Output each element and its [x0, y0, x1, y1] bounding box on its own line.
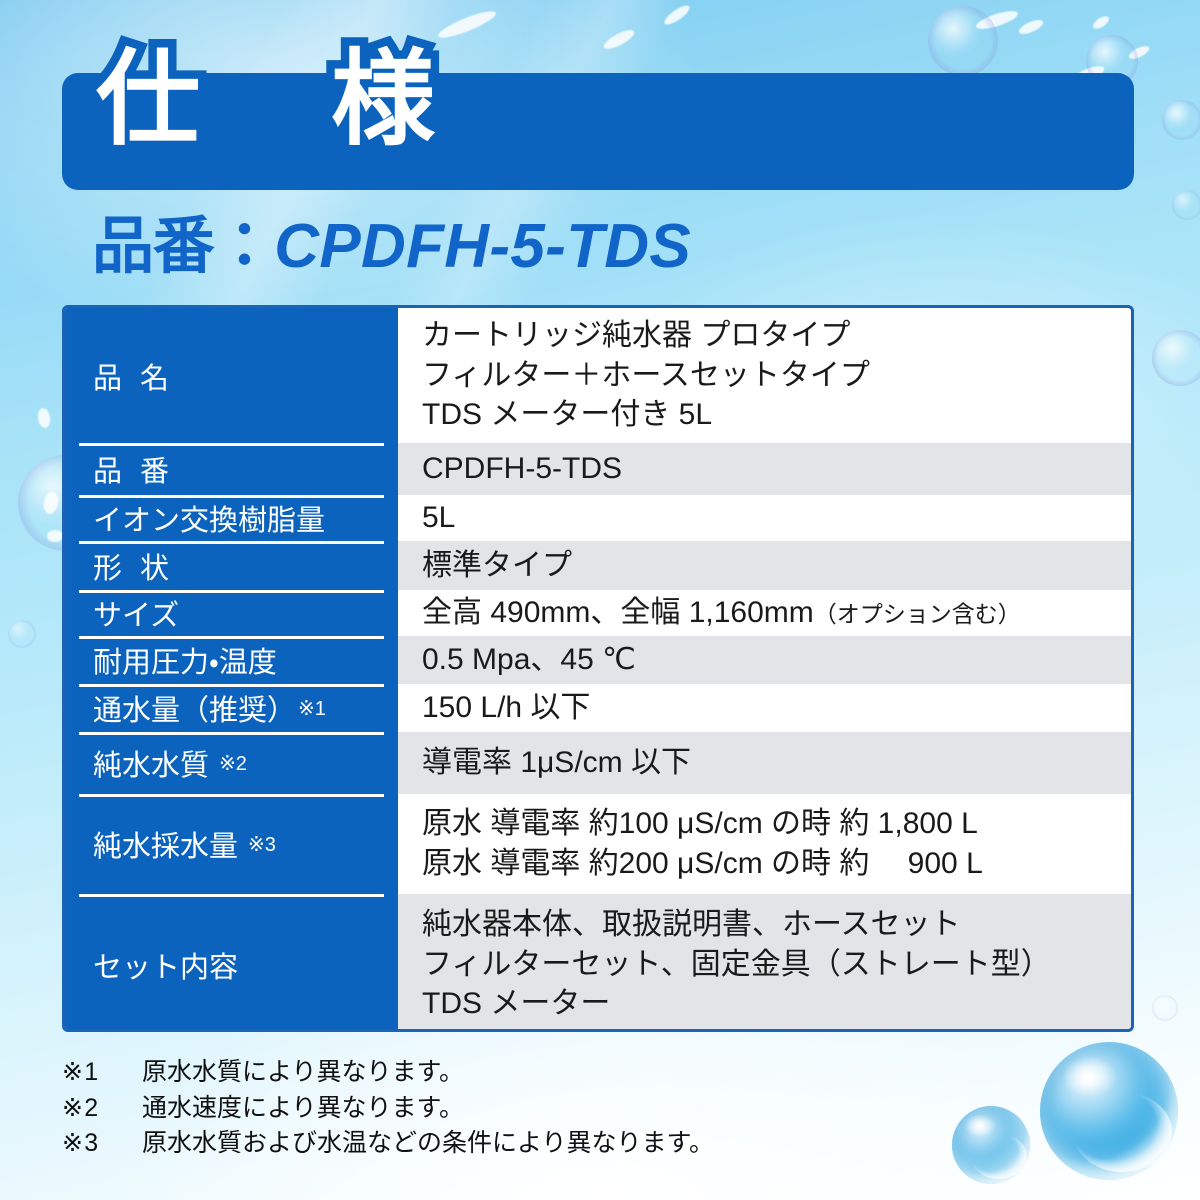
- spec-value-line: カートリッジ純水器 プロタイプ: [422, 316, 1121, 356]
- spec-row-label-text: 品番: [93, 448, 187, 490]
- spec-row: イオン交換樹脂量5L: [65, 495, 1131, 541]
- spec-row: 品番CPDFH-5-TDS: [65, 443, 1131, 495]
- spec-row-footnote-marker: ※2: [219, 751, 247, 776]
- spec-row-value: 5L: [398, 495, 1131, 541]
- footnote-marker: ※2: [62, 1091, 142, 1127]
- footnote-item: ※2通水速度により異なります。: [62, 1091, 962, 1127]
- spec-row-label-text: 純水水質: [93, 742, 209, 784]
- spec-row-footnote-marker: ※3: [248, 832, 276, 857]
- spec-row-label: 形状: [65, 541, 398, 590]
- spec-value-line: フィルターセット、固定金具（ストレート型）: [422, 945, 1121, 985]
- footnote-text: 原水水質により異なります。: [142, 1055, 464, 1091]
- spec-value-line: 0.5 Mpa、45 ℃: [422, 640, 1121, 680]
- spec-row-value: 標準タイプ: [398, 541, 1131, 590]
- spec-row: 純水採水量※3原水 導電率 約100 μS/cm の時 約 1,800 L原水 …: [65, 794, 1131, 894]
- spec-row-label-text: 純水採水量: [93, 823, 238, 865]
- spec-row-value: 0.5 Mpa、45 ℃: [398, 636, 1131, 684]
- spec-row: 品名カートリッジ純水器 プロタイプフィルター＋ホースセットタイプTDS メーター…: [65, 308, 1131, 443]
- spec-value-line: 150 L/h 以下: [422, 688, 1121, 728]
- spec-value-line: 標準タイプ: [422, 546, 1121, 586]
- model-number-heading: 品番：CPDFH-5-TDS: [92, 216, 691, 278]
- spec-row: 通水量（推奨）※1150 L/h 以下: [65, 684, 1131, 732]
- spec-row: セット内容純水器本体、取扱説明書、ホースセットフィルターセット、固定金具（ストレ…: [65, 894, 1131, 1032]
- spec-row-value: 150 L/h 以下: [398, 684, 1131, 732]
- spec-row-label-text: セット内容: [93, 944, 238, 986]
- spec-row-value: 原水 導電率 約100 μS/cm の時 約 1,800 L原水 導電率 約20…: [398, 794, 1131, 894]
- spec-row-label-text: 通水量（推奨）: [93, 687, 296, 729]
- spec-row: サイズ全高 490mm、全幅 1,160mm（オプション含む）: [65, 590, 1131, 636]
- footnote-list: ※1原水水質により異なります。※2通水速度により異なります。※3原水水質および水…: [62, 1055, 962, 1162]
- spec-row-label-text: サイズ: [93, 592, 179, 634]
- footnote-marker: ※1: [62, 1055, 142, 1091]
- spec-row-label: 通水量（推奨）※1: [65, 684, 398, 732]
- spec-row-label-text: 耐用圧力・温度: [93, 639, 277, 681]
- specification-table: 品名カートリッジ純水器 プロタイプフィルター＋ホースセットタイプTDS メーター…: [62, 305, 1134, 1032]
- spec-value-line: 導電率 1μS/cm 以下: [422, 743, 1121, 783]
- spec-row: 耐用圧力・温度0.5 Mpa、45 ℃: [65, 636, 1131, 684]
- spec-row-footnote-marker: ※1: [298, 696, 326, 721]
- spec-row-label: 品番: [65, 443, 398, 495]
- spec-row-value: 純水器本体、取扱説明書、ホースセットフィルターセット、固定金具（ストレート型）T…: [398, 894, 1131, 1032]
- spec-row-label: 耐用圧力・温度: [65, 636, 398, 684]
- spec-row-label: 純水水質※2: [65, 732, 398, 794]
- spec-value-line: フィルター＋ホースセットタイプ: [422, 356, 1121, 396]
- spec-row-label: 純水採水量※3: [65, 794, 398, 894]
- spec-value-line: 全高 490mm、全幅 1,160mm（オプション含む）: [422, 593, 1121, 633]
- spec-row-label: サイズ: [65, 590, 398, 636]
- spec-row-label-text: 品名: [93, 355, 187, 397]
- spec-value-line: 原水 導電率 約100 μS/cm の時 約 1,800 L: [422, 804, 1121, 844]
- footnote-marker: ※3: [62, 1126, 142, 1162]
- spec-value-note: （オプション含む）: [814, 601, 1021, 627]
- spec-row-label-text: 形状: [93, 545, 187, 587]
- footnote-item: ※1原水水質により異なります。: [62, 1055, 962, 1091]
- spec-row-value: CPDFH-5-TDS: [398, 443, 1131, 495]
- spec-row-label-text: イオン交換樹脂量: [93, 497, 325, 539]
- spec-row-value: 導電率 1μS/cm 以下: [398, 732, 1131, 794]
- spec-value-line: TDS メーター: [422, 984, 1121, 1024]
- spec-row-value: 全高 490mm、全幅 1,160mm（オプション含む）: [398, 590, 1131, 636]
- spec-value-line: 純水器本体、取扱説明書、ホースセット: [422, 905, 1121, 945]
- footnote-item: ※3原水水質および水温などの条件により異なります。: [62, 1126, 962, 1162]
- footnote-text: 原水水質および水温などの条件により異なります。: [142, 1126, 714, 1162]
- footnote-text: 通水速度により異なります。: [142, 1091, 464, 1127]
- spec-value-line: 原水 導電率 約200 μS/cm の時 約 900 L: [422, 844, 1121, 884]
- spec-value-line: CPDFH-5-TDS: [422, 449, 1121, 489]
- page-title: 仕 様: [96, 48, 449, 152]
- spec-value-line: TDS メーター付き 5L: [422, 395, 1121, 435]
- spec-row: 形状標準タイプ: [65, 541, 1131, 590]
- spec-row-value: カートリッジ純水器 プロタイプフィルター＋ホースセットタイプTDS メーター付き…: [398, 308, 1131, 443]
- spec-row-label: 品名: [65, 308, 398, 443]
- spec-value-line: 5L: [422, 498, 1121, 538]
- spec-row: 純水水質※2導電率 1μS/cm 以下: [65, 732, 1131, 794]
- spec-row-label: セット内容: [65, 894, 398, 1032]
- spec-row-label: イオン交換樹脂量: [65, 495, 398, 541]
- model-number-prefix: 品番：: [92, 212, 274, 281]
- model-number-value: CPDFH-5-TDS: [274, 212, 691, 281]
